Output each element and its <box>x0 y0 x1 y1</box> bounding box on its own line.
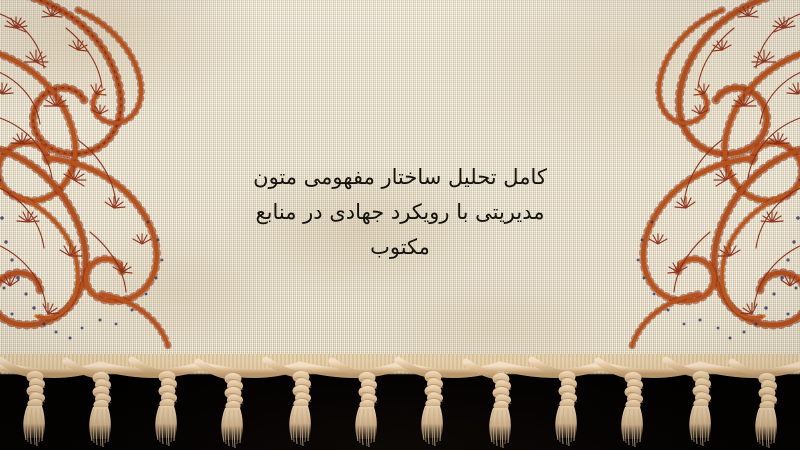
title-line-3: مکتوب <box>195 230 605 265</box>
slide-canvas: کامل تحلیل ساختار مفهومی متون مدیریتی با… <box>0 0 800 450</box>
slide-title: کامل تحلیل ساختار مفهومی متون مدیریتی با… <box>195 160 605 265</box>
title-line-1: کامل تحلیل ساختار مفهومی متون <box>195 160 605 195</box>
title-line-2: مدیریتی با رویکرد جهادی در منابع <box>195 195 605 230</box>
tassel-fringe <box>0 356 800 450</box>
